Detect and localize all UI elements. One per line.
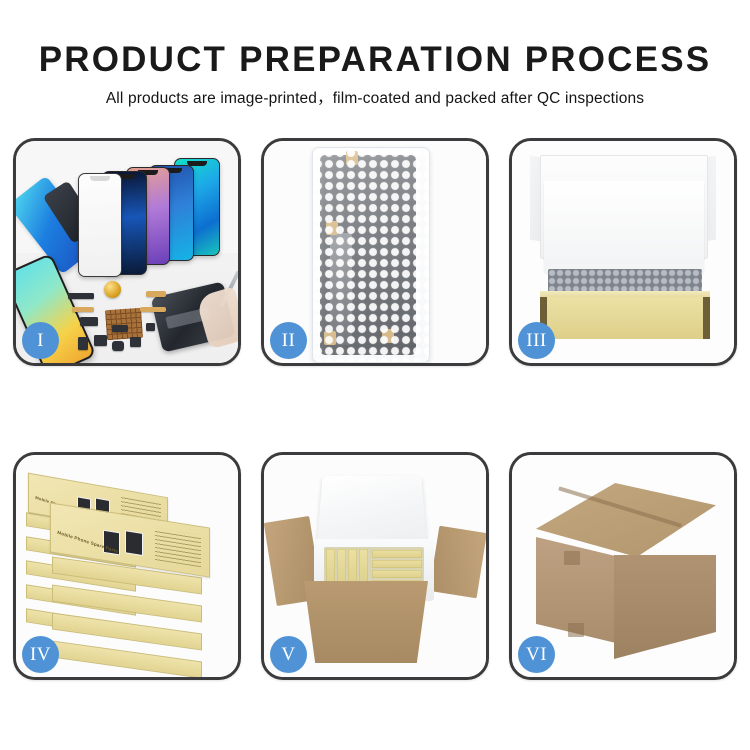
spare-part-chip — [80, 317, 98, 326]
process-step-panel-4[interactable]: Mobile Phone Spare Parts Mobile Phone Sp… — [13, 452, 241, 680]
page-subtitle: All products are image-printed，film-coat… — [0, 89, 750, 109]
box-corner-right — [703, 297, 710, 339]
vibration-motor-part — [104, 281, 121, 298]
flex-cable-part — [140, 307, 166, 312]
spare-part-chip — [146, 323, 155, 331]
page-header: PRODUCT PREPARATION PROCESS All products… — [0, 0, 750, 109]
process-step-panel-1[interactable]: I — [13, 138, 241, 366]
spare-part-chip — [112, 341, 124, 351]
carton-flap-right — [429, 526, 486, 599]
spare-part-chip — [78, 337, 88, 350]
carton-tape-patch — [568, 623, 584, 637]
spare-part-chip — [68, 293, 94, 299]
yellow-box-in-carton — [372, 560, 422, 568]
bubble-wrap-bag — [312, 147, 430, 363]
flex-cable-part — [146, 291, 166, 297]
yellow-box-in-carton — [372, 550, 422, 558]
spare-part-chip — [94, 335, 107, 346]
process-step-panel-2[interactable]: II — [261, 138, 489, 366]
process-steps-grid: I II III — [13, 138, 737, 680]
step-badge-1: I — [22, 322, 59, 359]
process-step-panel-6[interactable]: VI — [509, 452, 737, 680]
logic-board-part — [105, 308, 143, 340]
step-badge-2: II — [270, 322, 307, 359]
carton-body — [304, 581, 428, 663]
foam-box-lid — [317, 476, 427, 544]
white-foam-sheet — [544, 181, 704, 273]
lid-text-lines — [155, 528, 201, 567]
spare-part-chip — [112, 325, 128, 332]
yellow-box-in-carton — [372, 570, 422, 578]
lid-window — [125, 530, 143, 556]
carton-tape-patch — [564, 551, 580, 565]
phone-screen-1 — [78, 173, 122, 277]
step-badge-6: VI — [518, 636, 555, 673]
notch-icon — [90, 176, 110, 181]
step-badge-5: V — [270, 636, 307, 673]
page-title: PRODUCT PREPARATION PROCESS — [0, 40, 750, 80]
carton-right-face — [614, 555, 716, 659]
yellow-box-front — [540, 297, 710, 339]
step-badge-3: III — [518, 322, 555, 359]
spare-part-chip — [130, 337, 141, 347]
process-step-panel-5[interactable]: V — [261, 452, 489, 680]
step-badge-4: IV — [22, 636, 59, 673]
process-step-panel-3[interactable]: III — [509, 138, 737, 366]
flex-cable-part — [72, 307, 94, 312]
